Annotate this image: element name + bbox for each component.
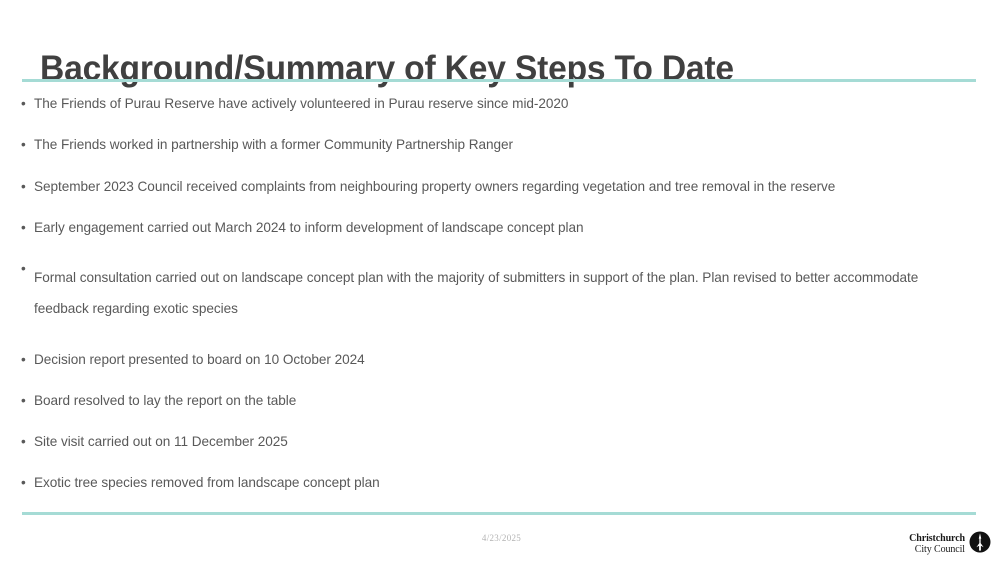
logo-line-2: City Council xyxy=(909,545,965,556)
list-item-text: Formal consultation carried out on lands… xyxy=(34,262,965,325)
bullet-point-icon: • xyxy=(21,180,26,194)
bullet-point-icon: • xyxy=(21,476,26,490)
christchurch-city-council-logo: Christchurch City Council xyxy=(909,531,991,558)
list-item-text: Board resolved to lay the report on the … xyxy=(34,394,965,408)
list-item: • Exotic tree species removed from lands… xyxy=(20,476,965,490)
list-item-text: Site visit carried out on 11 December 20… xyxy=(34,435,965,449)
footer-date: 4/23/2025 xyxy=(0,533,1003,543)
slide: Background/Summary of Key Steps To Date … xyxy=(0,0,1003,565)
list-item: • Board resolved to lay the report on th… xyxy=(20,394,965,408)
list-item: • The Friends worked in partnership with… xyxy=(20,138,965,152)
list-item: • Site visit carried out on 11 December … xyxy=(20,435,965,449)
page-title: Background/Summary of Key Steps To Date xyxy=(40,49,734,89)
logo-wordmark: Christchurch City Council xyxy=(909,534,965,555)
list-item: • September 2023 Council received compla… xyxy=(20,180,965,194)
bullet-point-icon: • xyxy=(21,435,26,449)
list-item-text: September 2023 Council received complain… xyxy=(34,180,965,194)
logo-line-1: Christchurch xyxy=(909,534,965,545)
list-item-text: Early engagement carried out March 2024 … xyxy=(34,221,965,235)
list-item: • Early engagement carried out March 202… xyxy=(20,221,965,235)
list-item-text: Decision report presented to board on 10… xyxy=(34,353,965,367)
list-item-text: The Friends of Purau Reserve have active… xyxy=(34,97,965,111)
bullet-point-icon: • xyxy=(21,138,26,152)
bullet-point-icon: • xyxy=(21,394,26,408)
bullet-point-icon: • xyxy=(21,97,26,111)
title-divider-rule xyxy=(22,79,976,82)
list-item: • Decision report presented to board on … xyxy=(20,353,965,367)
christchurch-city-council-emblem-icon xyxy=(969,531,991,558)
bullet-list: • The Friends of Purau Reserve have acti… xyxy=(20,97,965,491)
bullet-point-icon: • xyxy=(21,262,26,276)
list-item: • The Friends of Purau Reserve have acti… xyxy=(20,97,965,111)
list-item-text: The Friends worked in partnership with a… xyxy=(34,138,965,152)
bullet-point-icon: • xyxy=(21,221,26,235)
footer-divider-rule xyxy=(22,512,976,515)
bullet-point-icon: • xyxy=(21,353,26,367)
list-item-text: Exotic tree species removed from landsca… xyxy=(34,476,965,490)
list-item: • Formal consultation carried out on lan… xyxy=(20,262,965,325)
